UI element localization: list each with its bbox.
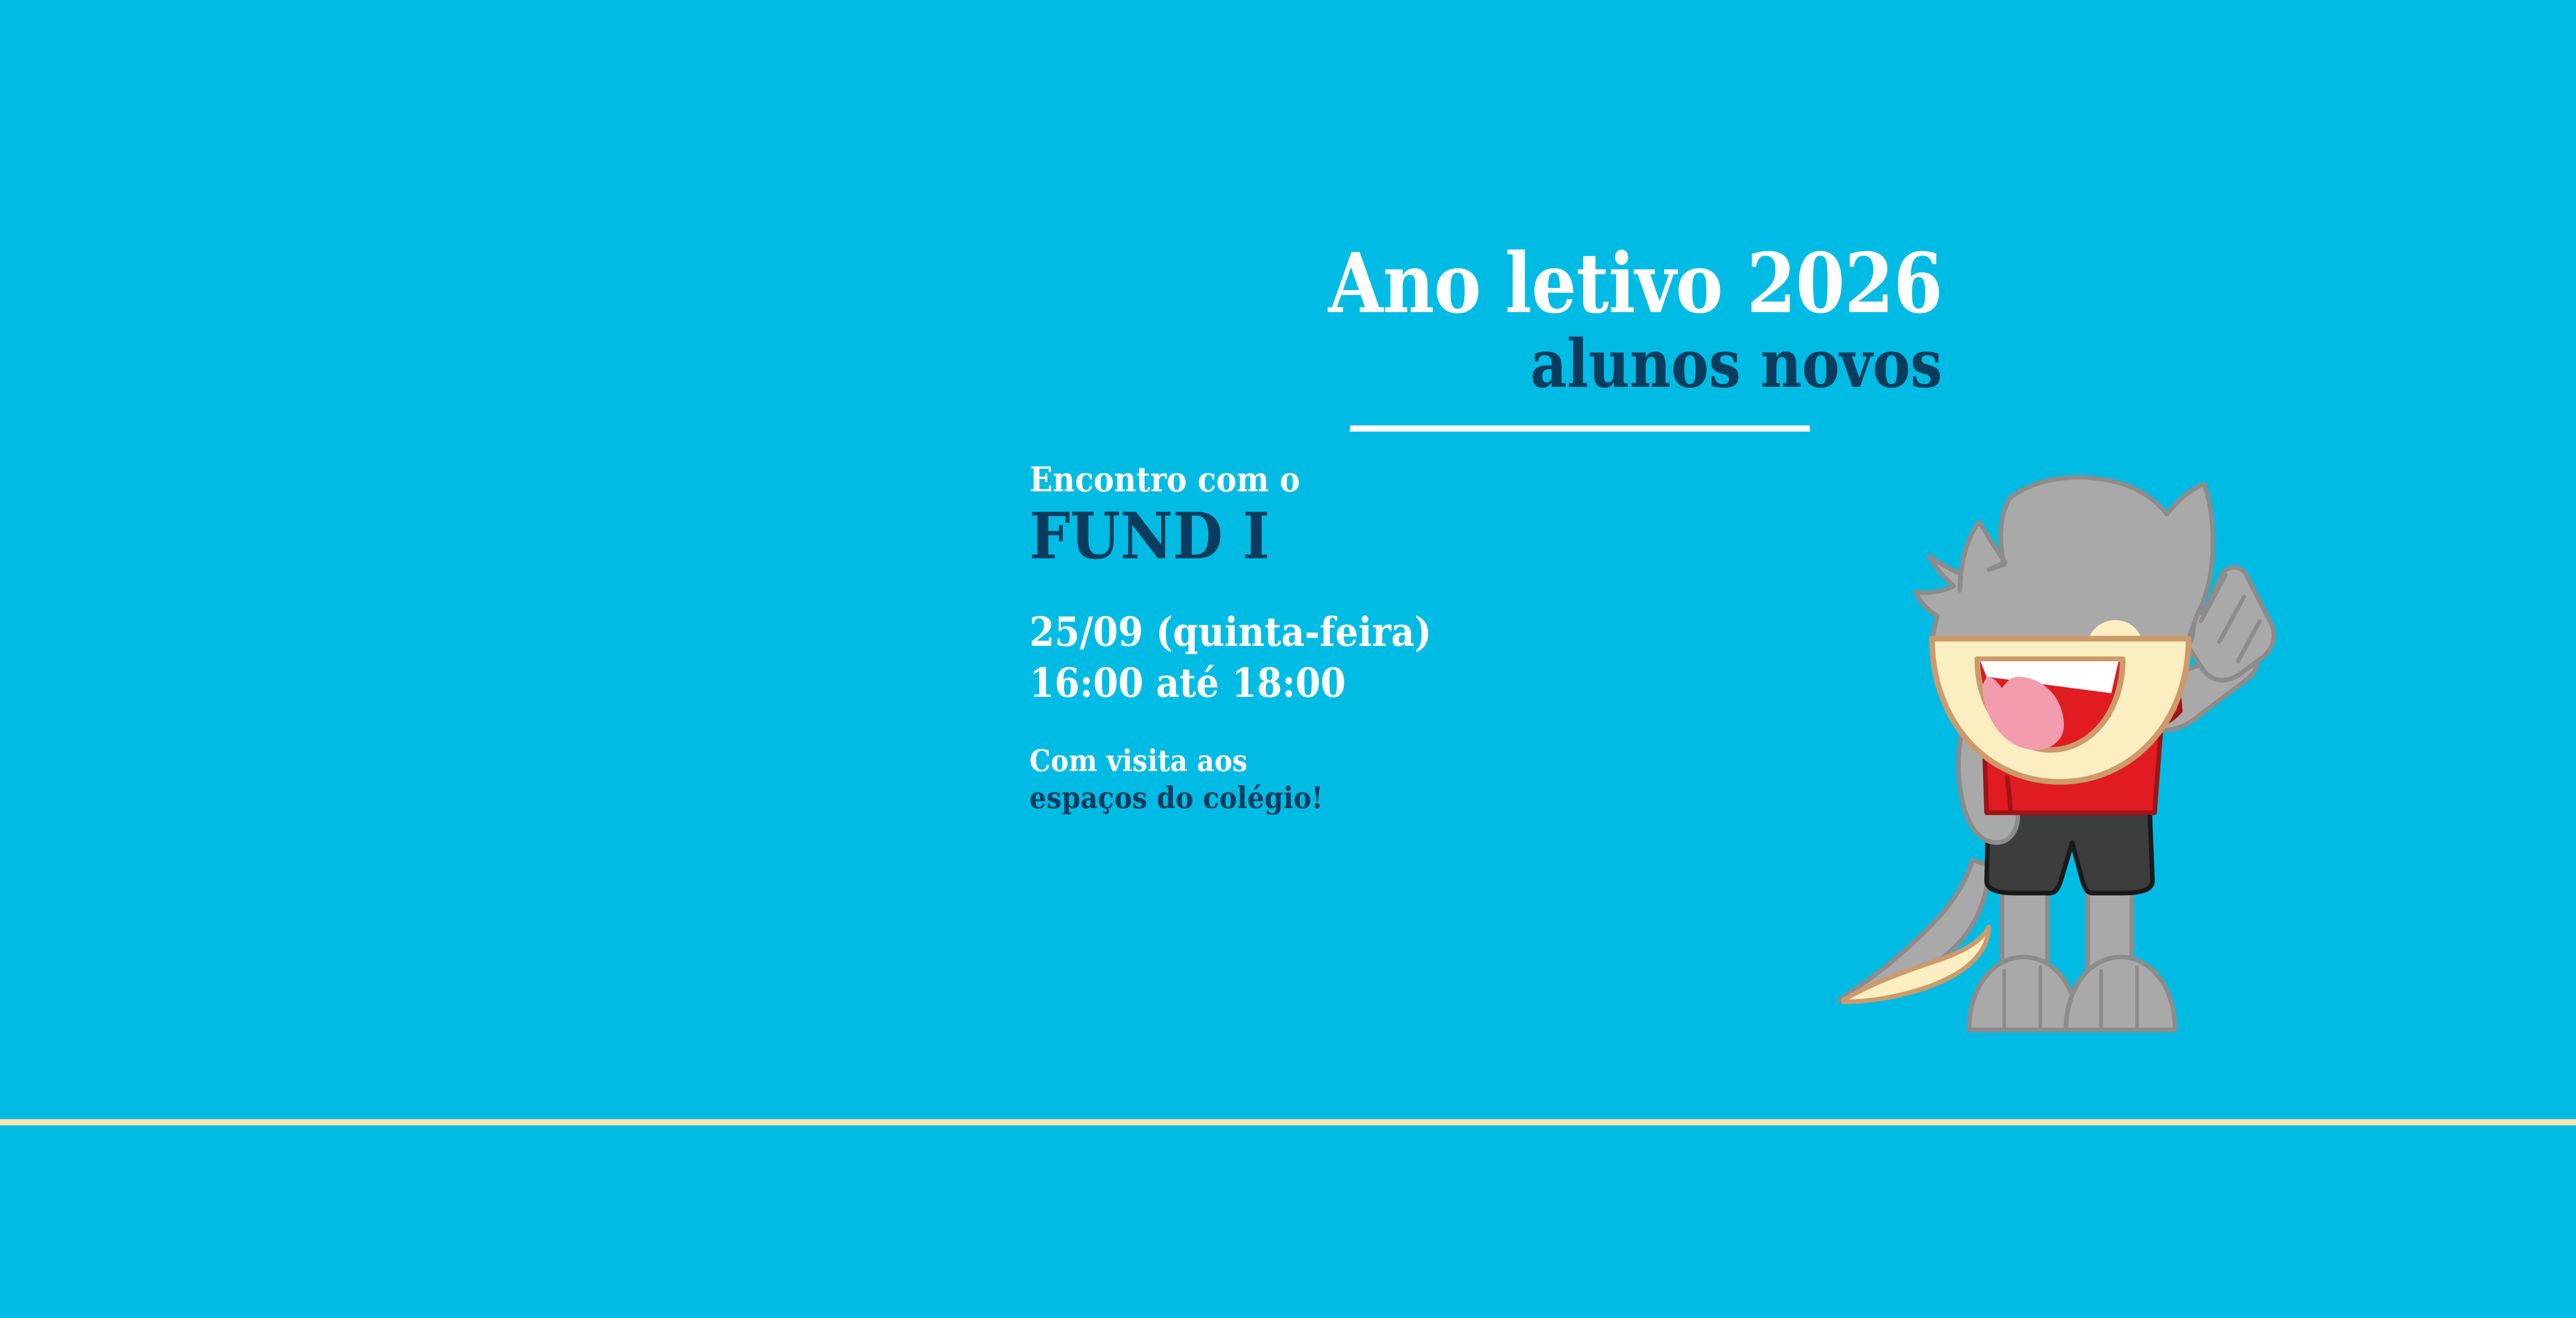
event-kicker: Encontro com o: [1029, 463, 1818, 497]
event-note-line2: espaços do colégio!: [1029, 780, 1818, 817]
event-title: FUND I: [1029, 505, 1818, 569]
mascot-foot-left: [1969, 957, 2078, 1030]
event-time: 16:00 até 18:00: [1029, 658, 1818, 709]
headline-underline: [1350, 425, 1810, 432]
headline-primary: Ano letivo 2026: [272, 242, 1942, 324]
mascot-head: [1916, 477, 2213, 639]
event-datetime: 25/09 (quinta-feira) 16:00 até 18:00: [1029, 607, 1818, 709]
wolf-mascot-icon: [1834, 469, 2277, 1056]
event-note-line1: Com visita aos: [1029, 743, 1818, 780]
mascot-foot-right: [2066, 957, 2175, 1030]
promo-banner: Ano letivo 2026 alunos novos Encontro co…: [0, 0, 2576, 1318]
event-date: 25/09 (quinta-feira): [1029, 607, 1818, 658]
headline-secondary: alunos novos: [272, 328, 1942, 401]
event-info-block: Encontro com o FUND I 25/09 (quinta-feir…: [1029, 463, 1905, 817]
event-note: Com visita aos espaços do colégio!: [1029, 743, 1818, 817]
headline-block: Ano letivo 2026 alunos novos: [0, 242, 1942, 401]
